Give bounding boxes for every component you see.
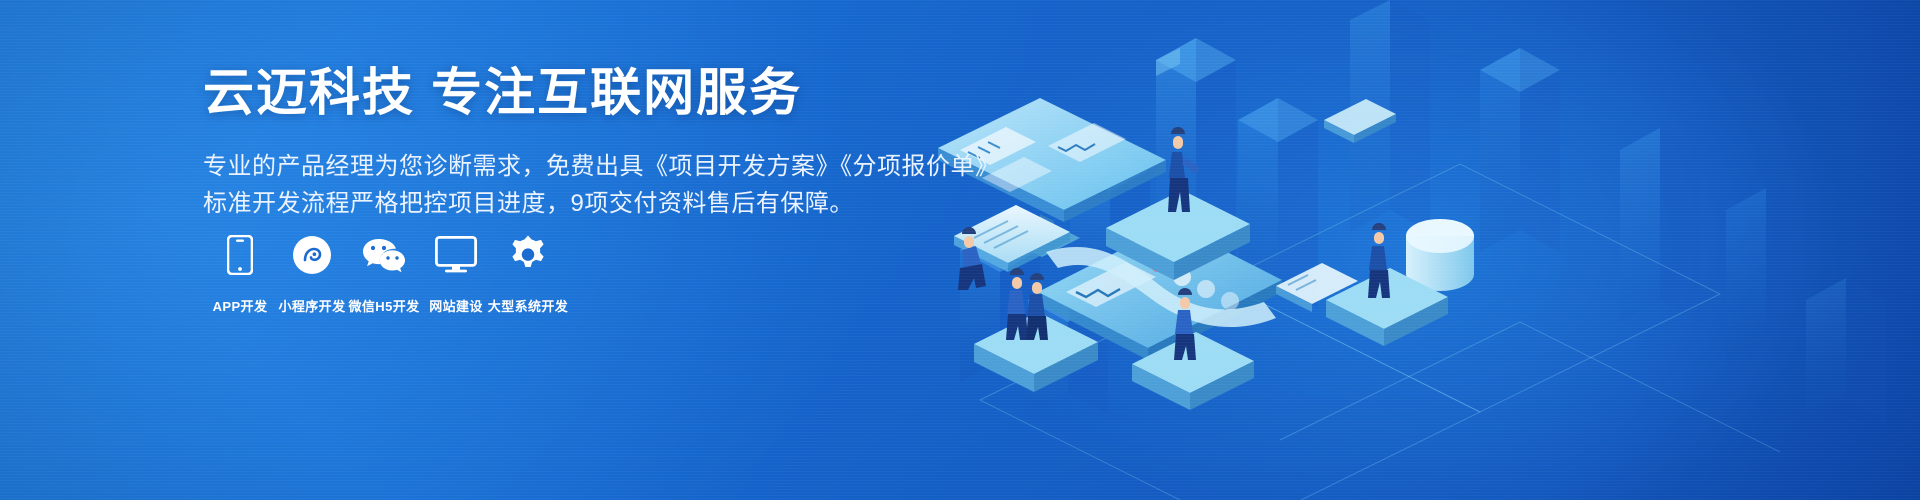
service-item-website[interactable]: 网站建设 — [420, 232, 492, 315]
service-label: APP开发 — [213, 296, 268, 315]
mini-program-icon — [292, 232, 332, 278]
service-item-wechat-h5[interactable]: 微信H5开发 — [348, 232, 420, 315]
mobile-phone-icon — [227, 232, 253, 278]
service-list: APP开发 小程序开发 — [204, 232, 564, 315]
service-label: 大型系统开发 — [488, 296, 568, 315]
page-title: 云迈科技 专注互联网服务 — [203, 64, 1103, 121]
monitor-icon — [435, 232, 477, 278]
gear-icon — [508, 232, 548, 278]
copy-block: 云迈科技 专注互联网服务 专业的产品经理为您诊断需求，免费出具《项目开发方案》《… — [203, 64, 1103, 222]
service-label: 微信H5开发 — [348, 296, 419, 315]
database-cylinder — [1406, 219, 1474, 291]
service-item-mini-program[interactable]: 小程序开发 — [276, 232, 348, 315]
subtitle-line-1: 专业的产品经理为您诊断需求，免费出具《项目开发方案》《分项报价单》 — [203, 149, 1103, 185]
service-item-large-system[interactable]: 大型系统开发 — [492, 232, 564, 315]
subtitle-line-2: 标准开发流程严格把控项目进度，9项交付资料售后有保障。 — [203, 186, 1103, 222]
wechat-icon — [361, 232, 407, 278]
service-label: 网站建设 — [429, 296, 483, 315]
service-item-app[interactable]: APP开发 — [204, 232, 276, 315]
service-label: 小程序开发 — [278, 296, 345, 315]
hero-banner: 云迈科技 专注互联网服务 专业的产品经理为您诊断需求，免费出具《项目开发方案》《… — [0, 0, 1920, 500]
